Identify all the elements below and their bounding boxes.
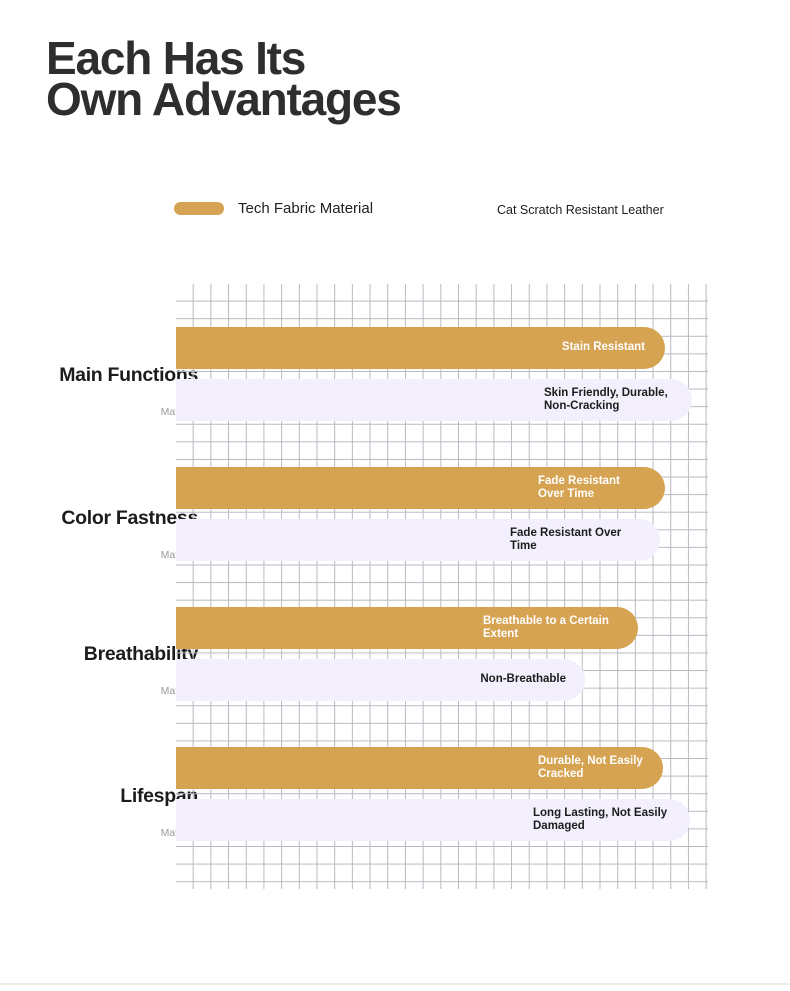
bar-breathability-cat-scratch-leather[interactable]: Non-Breathable [176, 659, 585, 701]
bar-color-fastness-cat-scratch-leather[interactable]: Fade Resistant Over Time [176, 519, 660, 561]
row-label-title: Main Functions [28, 364, 198, 387]
legend-item-tech-fabric-material[interactable]: Tech Fabric Material [174, 196, 373, 220]
bar-color-fastness-tech-fabric[interactable]: Fade Resistant Over Time [176, 467, 665, 509]
bar-main-functions-tech-fabric[interactable]: Stain Resistant [176, 327, 665, 369]
chart-legend: Tech Fabric Material Cat Scratch Resista… [174, 196, 734, 220]
page-title-line-2: Own Advantages [46, 79, 646, 120]
bar-lifespan-tech-fabric[interactable]: Durable, Not Easily Cracked [176, 747, 663, 789]
row-label-lifespan: Lifespan Material [28, 785, 198, 839]
chart-plot-area: Stain Resistant Skin Friendly, Durable, … [176, 284, 708, 889]
row-label-title: Color Fastness [28, 507, 198, 530]
bar-value-label: Durable, Not Easily Cracked [538, 755, 643, 782]
bar-breathability-tech-fabric[interactable]: Breathable to a Certain Extent [176, 607, 638, 649]
bar-value-label: Fade Resistant Over Time [510, 527, 628, 554]
row-label-sublabel: Material [28, 685, 198, 697]
bar-value-label: Long Lasting, Not Easily Damaged [533, 807, 668, 834]
row-label-sublabel: Material [28, 549, 198, 561]
bar-value-label: Breathable to a Certain Extent [483, 615, 614, 642]
bar-lifespan-cat-scratch-leather[interactable]: Long Lasting, Not Easily Damaged [176, 799, 690, 841]
row-label-breathability: Breathability Material [28, 643, 198, 697]
row-label-main-functions: Main Functions Material [28, 364, 198, 418]
bar-value-label: Fade Resistant Over Time [538, 475, 623, 502]
bar-value-label: Non-Breathable [480, 673, 566, 687]
bar-main-functions-cat-scratch-leather[interactable]: Skin Friendly, Durable, Non-Cracking [176, 379, 692, 421]
bar-value-label: Stain Resistant [562, 341, 645, 355]
footer-divider [0, 983, 790, 985]
legend-label-series-a: Tech Fabric Material [238, 200, 373, 217]
legend-item-cat-scratch-resistant-leather[interactable]: Cat Scratch Resistant Leather [497, 198, 664, 222]
row-label-title: Breathability [28, 643, 198, 666]
bar-value-label: Skin Friendly, Durable, Non-Cracking [544, 387, 680, 414]
page-title: Each Has Its Own Advantages [46, 38, 646, 120]
row-label-color-fastness: Color Fastness Material [28, 507, 198, 561]
row-label-sublabel: Material [28, 827, 198, 839]
legend-swatch-icon-series-a [174, 202, 224, 215]
legend-label-series-b: Cat Scratch Resistant Leather [497, 203, 664, 217]
row-label-title: Lifespan [28, 785, 198, 808]
row-label-sublabel: Material [28, 406, 198, 418]
